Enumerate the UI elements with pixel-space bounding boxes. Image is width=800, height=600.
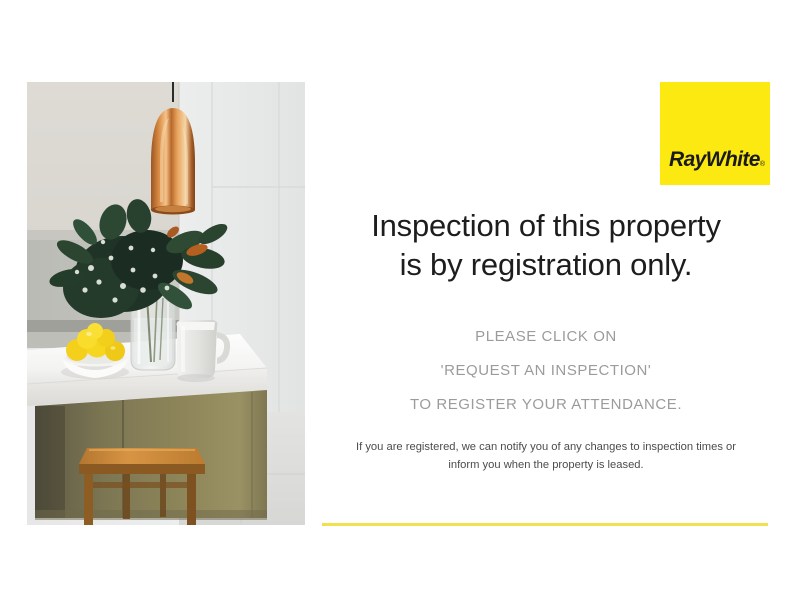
fine-print: If you are registered, we can notify you… bbox=[326, 438, 766, 474]
instruction-line-1: PLEASE CLICK ON bbox=[320, 320, 772, 354]
instruction-line-3: TO REGISTER YOUR ATTENDANCE. bbox=[320, 388, 772, 422]
kitchen-interior-illustration bbox=[27, 82, 305, 525]
fine-print-line-2: inform you when the property is leased. bbox=[326, 456, 766, 474]
raywhite-logo-text: RayWhite® bbox=[669, 148, 765, 172]
registered-trademark-icon: ® bbox=[760, 161, 765, 168]
instruction-block: PLEASE CLICK ON 'REQUEST AN INSPECTION' … bbox=[320, 320, 772, 422]
fine-print-line-1: If you are registered, we can notify you… bbox=[356, 441, 736, 453]
content-panel: RayWhite® Inspection of this property is… bbox=[320, 70, 772, 540]
yellow-divider bbox=[322, 523, 768, 526]
page-title: Inspection of this property is by regist… bbox=[320, 206, 772, 284]
instruction-line-2: 'REQUEST AN INSPECTION' bbox=[320, 354, 772, 388]
slide-canvas: RayWhite® Inspection of this property is… bbox=[0, 0, 800, 600]
page-title-line-2: is by registration only. bbox=[320, 245, 772, 284]
raywhite-logo: RayWhite® bbox=[660, 82, 770, 185]
raywhite-logo-wordmark: RayWhite bbox=[669, 148, 760, 171]
property-photo bbox=[27, 82, 305, 525]
page-title-line-1: Inspection of this property bbox=[371, 208, 721, 243]
